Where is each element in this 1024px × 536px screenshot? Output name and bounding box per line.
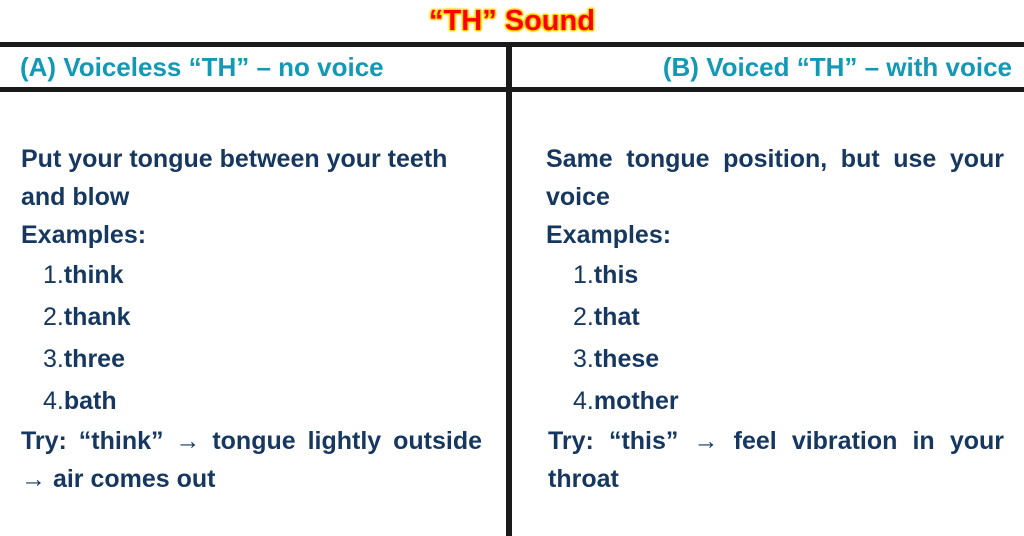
list-item-number: 4. xyxy=(573,380,594,422)
comparison-table: (A) Voiceless “TH” – no voice (B) Voiced… xyxy=(0,42,1024,536)
list-item-number: 1. xyxy=(43,254,64,296)
list-item: 1.think xyxy=(21,254,482,296)
list-item-number: 1. xyxy=(573,254,594,296)
header-cell-voiced: (B) Voiced “TH” – with voice xyxy=(518,47,1024,87)
list-item-number: 4. xyxy=(43,380,64,422)
table-body-row: Put your tongue between your teeth and b… xyxy=(0,92,1024,536)
column-b-header: (B) Voiced “TH” – with voice xyxy=(663,54,1012,80)
list-item-word: this xyxy=(594,261,638,289)
list-item: 2.that xyxy=(546,296,1004,338)
list-item-word: that xyxy=(594,303,640,331)
list-item-number: 2. xyxy=(43,296,64,338)
column-a-instruction: Put your tongue between your teeth and b… xyxy=(21,140,482,216)
list-item-number: 3. xyxy=(573,338,594,380)
header-cell-voiceless: (A) Voiceless “TH” – no voice xyxy=(0,47,506,87)
list-item: 4.mother xyxy=(546,380,1004,422)
column-a-example-list: 1.think 2.thank 3.three 4.bath xyxy=(21,254,482,422)
list-item-word: these xyxy=(594,345,659,373)
list-item: 3.these xyxy=(546,338,1004,380)
column-b-example-list: 1.this 2.that 3.these 4.mother xyxy=(546,254,1004,422)
column-b-try-line: Try: “this” → feel vibration in your thr… xyxy=(546,422,1004,498)
list-item: 1.this xyxy=(546,254,1004,296)
list-item: 4.bath xyxy=(21,380,482,422)
list-item-number: 3. xyxy=(43,338,64,380)
column-b-voiced: Same tongue position, but use your voice… xyxy=(518,92,1024,536)
list-item: 2.thank xyxy=(21,296,482,338)
th-sound-slide: “TH” Sound (A) Voiceless “TH” – no voice… xyxy=(0,0,1024,536)
table-header-row: (A) Voiceless “TH” – no voice (B) Voiced… xyxy=(0,47,1024,87)
list-item-number: 2. xyxy=(573,296,594,338)
list-item-word: think xyxy=(64,261,124,289)
page-title: “TH” Sound xyxy=(429,7,595,36)
column-a-header: (A) Voiceless “TH” – no voice xyxy=(20,54,384,80)
list-item-word: bath xyxy=(64,387,117,415)
slide-title-bar: “TH” Sound xyxy=(0,0,1024,42)
list-item-word: three xyxy=(64,345,125,373)
column-b-examples-label: Examples: xyxy=(546,216,1004,254)
column-a-examples-label: Examples: xyxy=(21,216,482,254)
column-b-instruction: Same tongue position, but use your voice xyxy=(546,140,1004,216)
column-a-try-line: Try: “think” → tongue lightly outside → … xyxy=(21,422,482,498)
list-item-word: mother xyxy=(594,387,679,415)
column-a-voiceless: Put your tongue between your teeth and b… xyxy=(0,92,506,536)
list-item-word: thank xyxy=(64,303,131,331)
list-item: 3.three xyxy=(21,338,482,380)
